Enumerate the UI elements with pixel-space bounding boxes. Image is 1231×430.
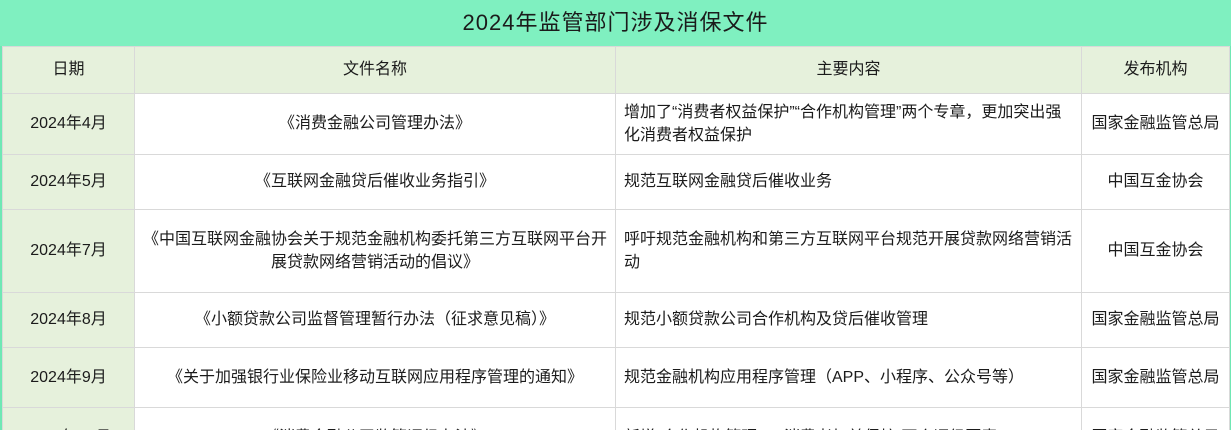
cell-main-content: 规范互联网金融贷后催收业务 [616,155,1082,210]
cell-date: 2024年4月 [3,94,135,155]
cell-main-content: 呼吁规范金融机构和第三方互联网平台规范开展贷款网络营销活动 [616,210,1082,293]
cell-issuing-organization: 国家金融监管总局 [1082,94,1230,155]
cell-date: 2024年12月 [3,408,135,430]
column-header-main: 主要内容 [616,47,1082,94]
cell-date: 2024年5月 [3,155,135,210]
cell-issuing-organization: 国家金融监管总局 [1082,348,1230,408]
page-root: 禾金财经 禾金财经 禾金财经 禾金财经 禾金财经 禾金财经 禾金财经 禾金财经 … [0,0,1231,430]
cell-issuing-organization: 国家金融监管总局 [1082,408,1230,430]
table-row: 2024年12月 《消费金融公司监管评级办法》 新增“合作机构管理”、“消费者权… [3,408,1230,430]
cell-document-name: 《中国互联网金融协会关于规范金融机构委托第三方互联网平台开展贷款网络营销活动的倡… [135,210,616,293]
table-row: 2024年5月 《互联网金融贷后催收业务指引》 规范互联网金融贷后催收业务 中国… [3,155,1230,210]
table-header-row: 日期 文件名称 主要内容 发布机构 [3,47,1230,94]
table-row: 2024年9月 《关于加强银行业保险业移动互联网应用程序管理的通知》 规范金融机… [3,348,1230,408]
cell-date: 2024年8月 [3,293,135,348]
cell-date: 2024年7月 [3,210,135,293]
page-title: 2024年监管部门涉及消保文件 [463,12,769,34]
cell-issuing-organization: 国家金融监管总局 [1082,293,1230,348]
column-header-org: 发布机构 [1082,47,1230,94]
cell-document-name: 《消费金融公司管理办法》 [135,94,616,155]
table-row: 2024年4月 《消费金融公司管理办法》 增加了“消费者权益保护”“合作机构管理… [3,94,1230,155]
column-header-name: 文件名称 [135,47,616,94]
cell-main-content: 规范小额贷款公司合作机构及贷后催收管理 [616,293,1082,348]
cell-issuing-organization: 中国互金协会 [1082,155,1230,210]
table-container: 日期 文件名称 主要内容 发布机构 2024年4月 《消费金融公司管理办法》 增… [0,46,1231,430]
cell-main-content: 增加了“消费者权益保护”“合作机构管理”两个专章，更加突出强化消费者权益保护 [616,94,1082,155]
cell-document-name: 《消费金融公司监管评级办法》 [135,408,616,430]
cell-issuing-organization: 中国互金协会 [1082,210,1230,293]
cell-main-content: 规范金融机构应用程序管理（APP、小程序、公众号等） [616,348,1082,408]
regulatory-documents-table: 日期 文件名称 主要内容 发布机构 2024年4月 《消费金融公司管理办法》 增… [2,46,1230,430]
table-row: 2024年7月 《中国互联网金融协会关于规范金融机构委托第三方互联网平台开展贷款… [3,210,1230,293]
cell-date: 2024年9月 [3,348,135,408]
chart-title-band: 2024年监管部门涉及消保文件 [0,0,1231,46]
cell-main-content: 新增“合作机构管理”、“消费者权益保护”两个评级要素 [616,408,1082,430]
column-header-date: 日期 [3,47,135,94]
cell-document-name: 《互联网金融贷后催收业务指引》 [135,155,616,210]
cell-document-name: 《关于加强银行业保险业移动互联网应用程序管理的通知》 [135,348,616,408]
cell-document-name: 《小额贷款公司监督管理暂行办法（征求意见稿）》 [135,293,616,348]
table-row: 2024年8月 《小额贷款公司监督管理暂行办法（征求意见稿）》 规范小额贷款公司… [3,293,1230,348]
